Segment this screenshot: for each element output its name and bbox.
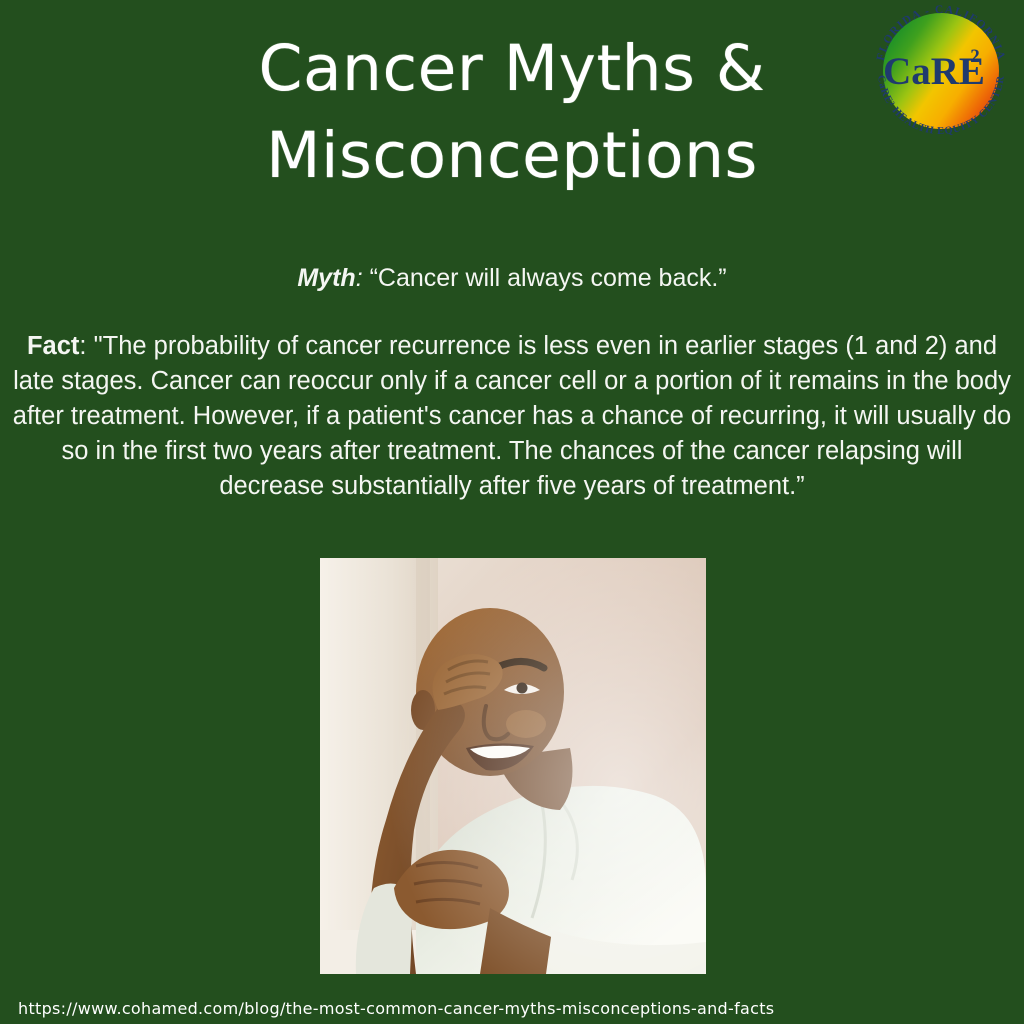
myth-label: Myth: [297, 264, 355, 292]
fact-label: Fact: [27, 332, 79, 360]
poster-canvas: FLORIDA - CALIFORNIA CaRE² HEALTH EQUITY…: [0, 0, 1024, 1024]
fact-separator: :: [79, 332, 93, 360]
smiling-bald-woman-portrait: [320, 558, 706, 974]
myth-statement: Myth: “Cancer will always come back.”: [0, 262, 1024, 295]
fact-statement: Fact: "The probability of cancer recurre…: [8, 329, 1016, 504]
myth-separator: :: [356, 264, 370, 292]
page-title: Cancer Myths & Misconceptions: [0, 26, 1024, 200]
myth-quote-text: “Cancer will always come back.”: [370, 264, 727, 292]
photo-light-glow: [320, 558, 706, 974]
fact-body-text: "The probability of cancer recurrence is…: [13, 332, 1011, 500]
source-url[interactable]: https://www.cohamed.com/blog/the-most-co…: [18, 999, 774, 1018]
